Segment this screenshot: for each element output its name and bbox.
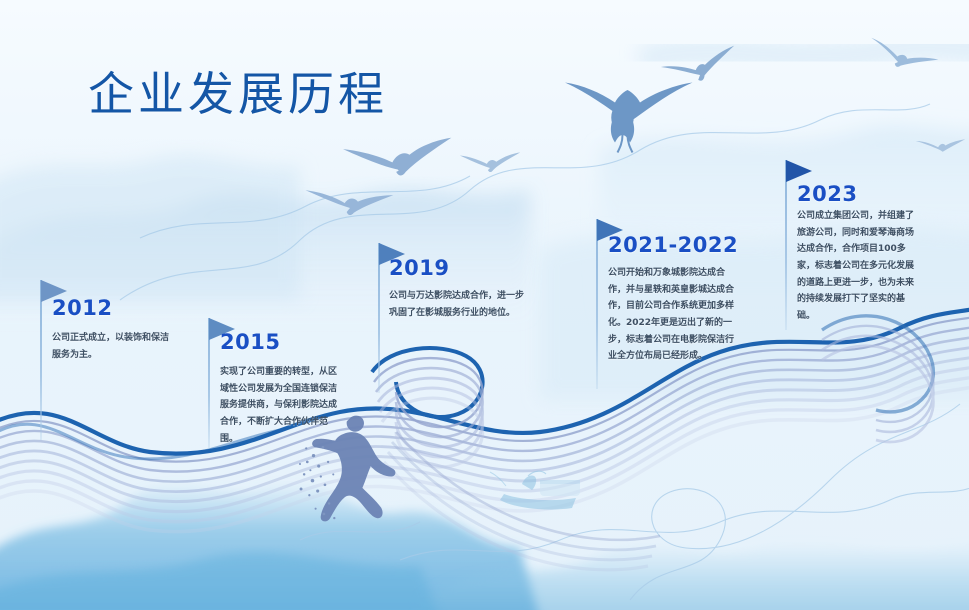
milestone-description: 公司与万达影院达成合作，进一步巩固了在影城服务行业的地位。 — [389, 288, 529, 321]
flag-icon — [786, 160, 812, 182]
milestone-year: 2023 — [797, 182, 857, 206]
milestone-year: 2021-2022 — [608, 233, 738, 257]
flag-pole — [596, 219, 598, 389]
page-title: 企业发展历程 — [88, 58, 388, 124]
flag-pole — [378, 243, 380, 393]
infographic-canvas: 2012 公司正式成立，以装饰和保洁服务为主。 2015 实现了公司重要的转型，… — [0, 0, 969, 610]
flag-pole — [40, 280, 42, 440]
milestone-year: 2012 — [52, 296, 112, 320]
milestone-description: 公司开始和万象城影院达成合作，并与星轶和英皇影城达成合作，目前公司合作系统更加多… — [608, 265, 736, 365]
milestone-year: 2015 — [220, 330, 280, 354]
flag-pole — [785, 160, 787, 330]
milestone-description: 公司正式成立，以装饰和保洁服务为主。 — [52, 330, 172, 363]
milestone-year: 2019 — [389, 256, 449, 280]
milestone-description: 公司成立集团公司，并组建了旅游公司，同时和爱琴海商场达成合作，合作项目100多家… — [797, 208, 917, 324]
milestone-description: 实现了公司重要的转型，从区域性公司发展为全国连锁保洁服务提供商，与保利影院达成合… — [220, 364, 340, 447]
